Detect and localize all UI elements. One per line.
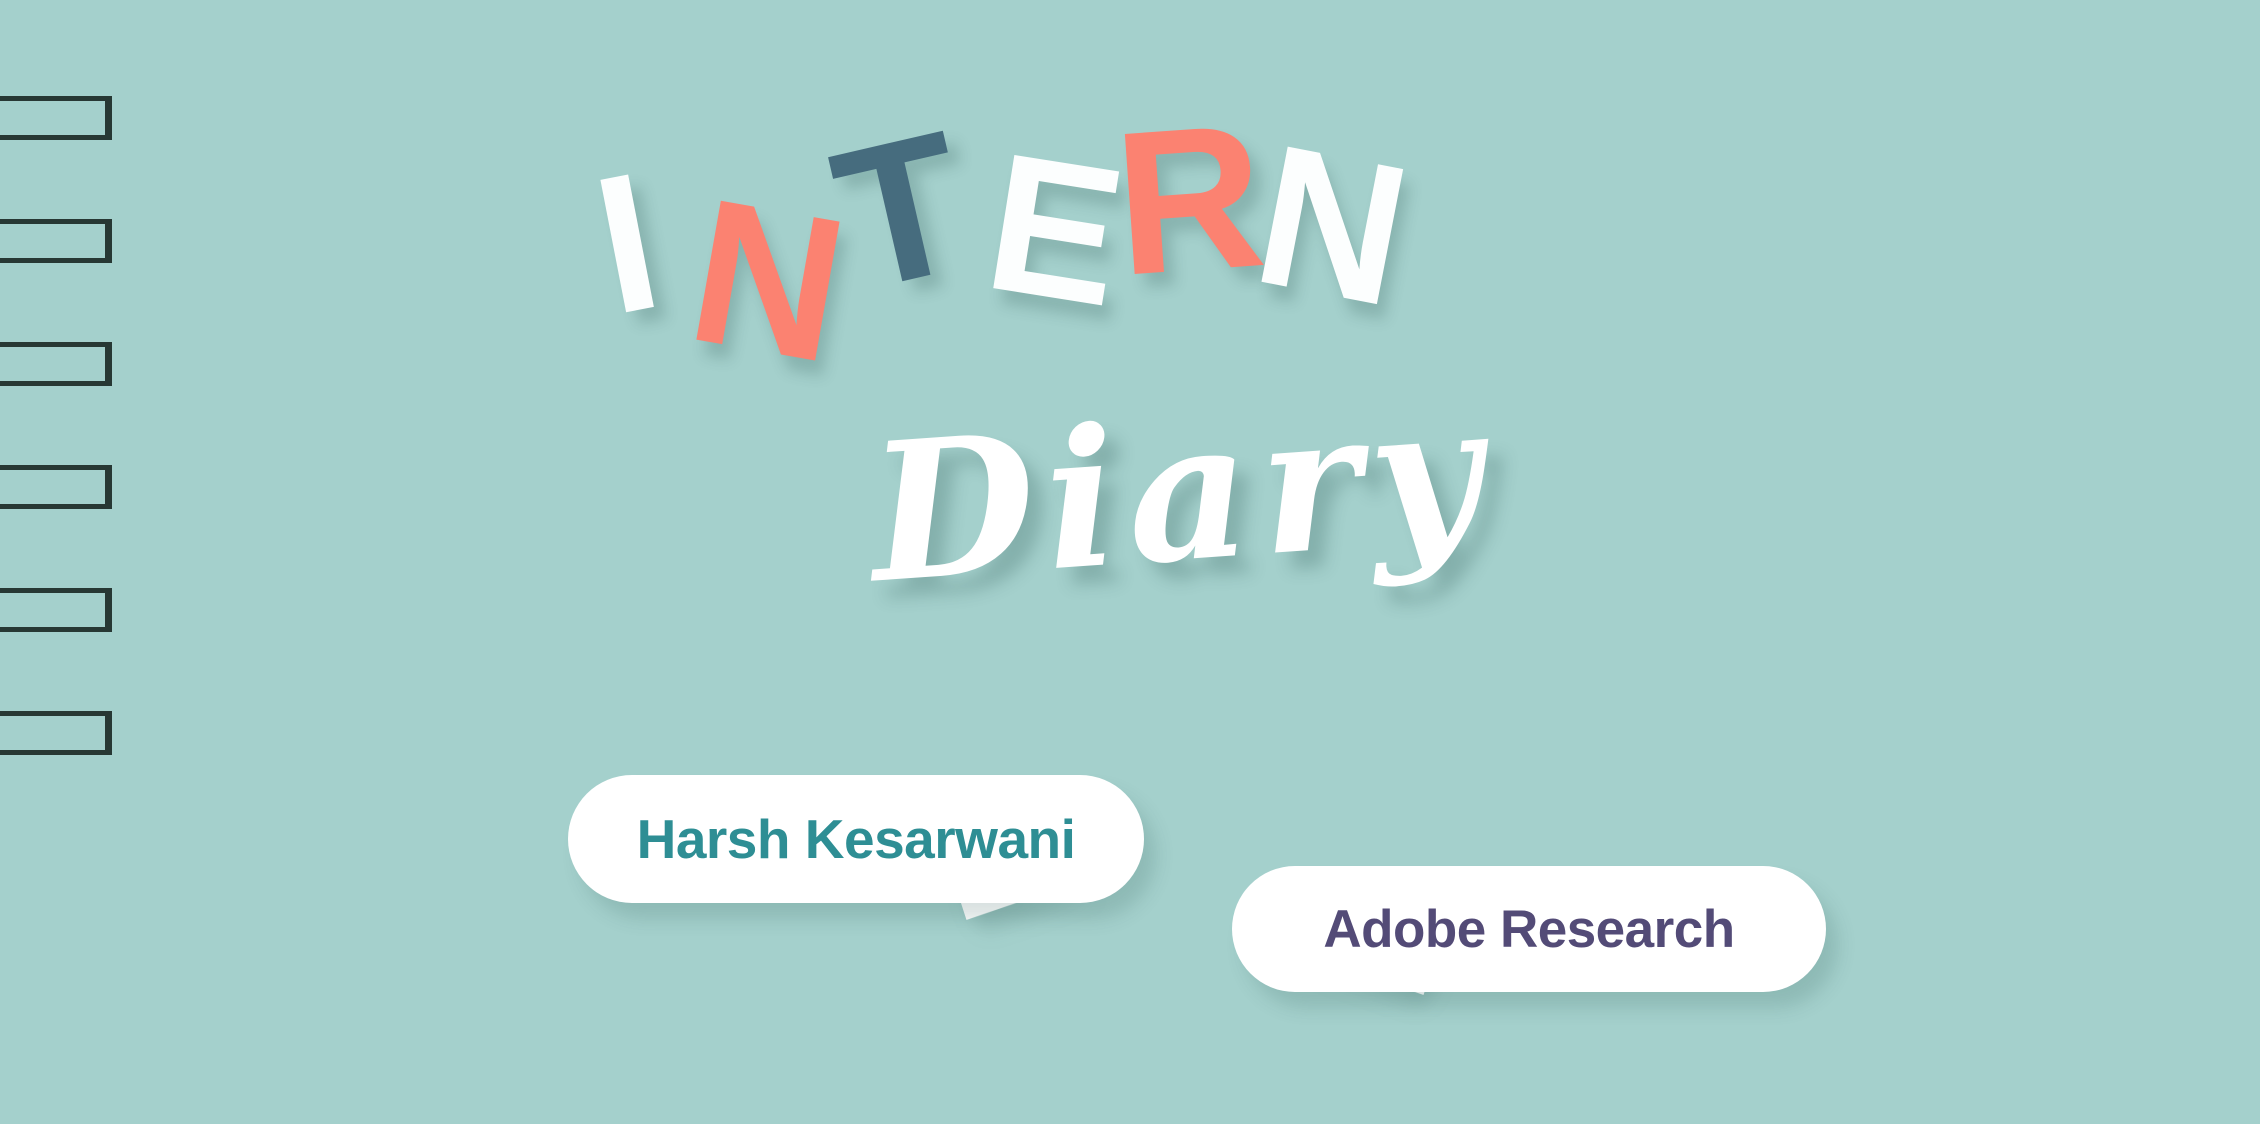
title-letter-n1: N [677,167,856,394]
spiral-ring-5 [0,588,112,632]
spiral-ring-1 [0,96,112,140]
page-title-intern: I N T E R N [600,120,1700,360]
spiral-ring-3 [0,342,112,386]
title-letter-n2: N [1242,114,1420,338]
speech-bubble-person[interactable]: Harsh Kesarwani [568,775,1144,903]
spiral-ring-2 [0,219,112,263]
speech-bubble-organization-label: Adobe Research [1323,899,1734,960]
spiral-ring-hole [0,101,105,135]
title-letter-t: T [819,101,981,323]
slide-canvas: I N T E R N Diary Harsh Kesarwani Adobe … [0,0,2260,1124]
spiral-ring-hole [0,470,105,504]
spiral-ring-hole [0,716,105,750]
title-letter-e: E [975,123,1133,337]
spiral-ring-6 [0,711,112,755]
spiral-ring-4 [0,465,112,509]
title-letter-r: R [1109,93,1268,307]
speech-bubble-person-label: Harsh Kesarwani [637,807,1076,871]
page-subtitle-diary: Diary [864,377,1496,610]
title-letter-i: I [582,143,671,345]
speech-bubble-organization[interactable]: Adobe Research [1232,866,1826,992]
spiral-ring-hole [0,347,105,381]
spiral-ring-hole [0,593,105,627]
spiral-ring-hole [0,224,105,258]
